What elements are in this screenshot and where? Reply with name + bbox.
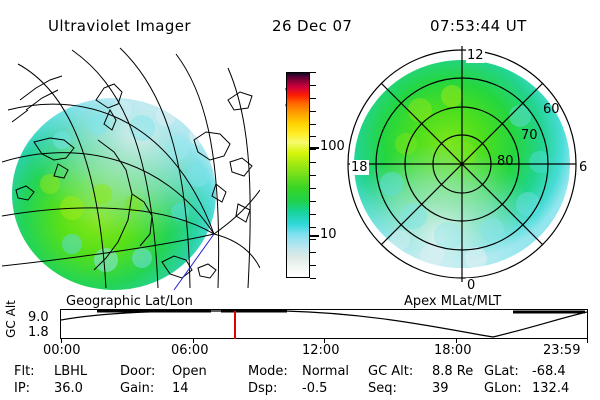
apex-mlat-label: 60 — [542, 102, 561, 117]
status-value: LBHL — [54, 364, 87, 379]
status-label: IP: — [14, 381, 30, 396]
status-row-1: Flt:LBHLDoor:OpenMode:NormalGC Alt:8.8 R… — [0, 364, 600, 380]
colorbar: photon cm-2s-1 10010 — [266, 60, 340, 292]
geographic-image-canvas — [2, 44, 260, 292]
status-value: -0.5 — [302, 381, 327, 396]
status-value: Normal — [302, 364, 349, 379]
colorbar-minor-tick — [310, 227, 316, 228]
colorbar-tick-label: 10 — [320, 227, 337, 242]
colorbar-minor-tick — [310, 201, 316, 202]
colorbar-minor-tick — [310, 136, 316, 137]
geographic-image-panel — [2, 44, 260, 292]
colorbar-gradient — [287, 73, 309, 277]
apex-dial-canvas: 126018607080 — [344, 44, 596, 294]
colorbar-minor-tick — [310, 85, 316, 86]
colorbar-minor-tick — [310, 162, 316, 163]
apex-mlt-label: 12 — [466, 48, 485, 63]
page-title: Ultraviolet Imager — [48, 19, 191, 34]
colorbar-gradient-box — [286, 72, 310, 278]
gc-alt-axis-label: GC Alt — [5, 296, 17, 342]
apex-svg — [344, 44, 596, 294]
gc-alt-max-label: 9.0 — [28, 311, 49, 324]
observation-date: 26 Dec 07 — [272, 19, 352, 34]
status-value: 8.8 Re — [432, 364, 473, 379]
time-axis-label: 12:00 — [302, 343, 339, 358]
altitude-trace-svg — [61, 310, 587, 338]
altitude-curve — [61, 311, 587, 337]
gc-alt-min-label: 1.8 — [28, 326, 49, 339]
status-value: 132.4 — [532, 381, 569, 396]
geographic-svg — [2, 44, 260, 292]
apex-mlat-label: 70 — [520, 128, 539, 143]
time-axis-label: 18:00 — [434, 343, 471, 358]
apex-mlt-label: 0 — [466, 278, 476, 293]
status-label: Mode: — [248, 364, 288, 379]
colorbar-major-tick — [310, 147, 319, 149]
apex-panel-caption: Apex MLat/MLT — [404, 295, 501, 308]
apex-mlat-label: 80 — [496, 154, 515, 169]
header-bar: Ultraviolet Imager 26 Dec 07 07:53:44 UT — [0, 9, 600, 33]
status-label: GLon: — [484, 381, 522, 396]
status-panel: Flt:LBHLDoor:OpenMode:NormalGC Alt:8.8 R… — [0, 364, 600, 398]
time-axis-label: 00:00 — [43, 343, 80, 358]
colorbar-tick-group — [310, 72, 318, 278]
time-axis-tick — [193, 339, 194, 343]
colorbar-minor-tick — [310, 111, 316, 112]
status-label: GC Alt: — [368, 364, 413, 379]
status-label: Dsp: — [248, 381, 277, 396]
altitude-trace-plot[interactable] — [60, 309, 588, 339]
altitude-trace-panel: GC Alt 9.0 1.8 — [0, 309, 600, 341]
colorbar-minor-tick — [310, 72, 316, 73]
colorbar-minor-tick — [310, 149, 316, 150]
status-value: 39 — [432, 381, 449, 396]
status-label: Seq: — [368, 381, 397, 396]
colorbar-minor-tick — [310, 175, 316, 176]
status-row-2: IP:36.0Gain:14Dsp:-0.5Seq:39GLon:132.4 — [0, 381, 600, 397]
apex-mlt-spokes — [348, 46, 576, 282]
status-label: Door: — [120, 364, 155, 379]
observation-time: 07:53:44 UT — [430, 19, 527, 34]
status-value: Open — [172, 364, 207, 379]
status-label: Flt: — [14, 364, 35, 379]
status-label: Gain: — [120, 381, 154, 396]
time-axis-tick — [456, 339, 457, 343]
colorbar-major-tick — [310, 235, 319, 237]
time-axis-label: 06:00 — [171, 343, 208, 358]
apex-dial-panel: 126018607080 — [344, 44, 596, 294]
colorbar-minor-tick — [310, 265, 316, 266]
colorbar-minor-tick — [310, 278, 316, 279]
colorbar-minor-tick — [310, 214, 316, 215]
status-value: 14 — [172, 381, 189, 396]
geographic-panel-caption: Geographic Lat/Lon — [66, 295, 193, 308]
colorbar-minor-tick — [310, 188, 316, 189]
colorbar-minor-tick — [310, 98, 316, 99]
status-value: 36.0 — [54, 381, 83, 396]
time-axis-tick — [61, 339, 62, 343]
colorbar-minor-tick — [310, 239, 316, 240]
colorbar-minor-tick — [310, 252, 316, 253]
status-value: -68.4 — [532, 364, 566, 379]
status-label: GLat: — [484, 364, 519, 379]
apex-mlt-label: 18 — [350, 160, 369, 175]
time-axis-tick — [587, 339, 588, 343]
time-cursor[interactable] — [234, 311, 236, 339]
time-axis-tick — [324, 339, 325, 343]
colorbar-minor-tick — [310, 124, 316, 125]
time-axis: 00:0006:0012:0018:0023:59 — [0, 341, 600, 361]
time-axis-label: 23:59 — [543, 343, 580, 358]
uvi-screenshot: Ultraviolet Imager 26 Dec 07 07:53:44 UT — [0, 0, 600, 400]
colorbar-tick-label: 100 — [320, 139, 345, 154]
apex-mlt-label: 6 — [578, 160, 588, 175]
